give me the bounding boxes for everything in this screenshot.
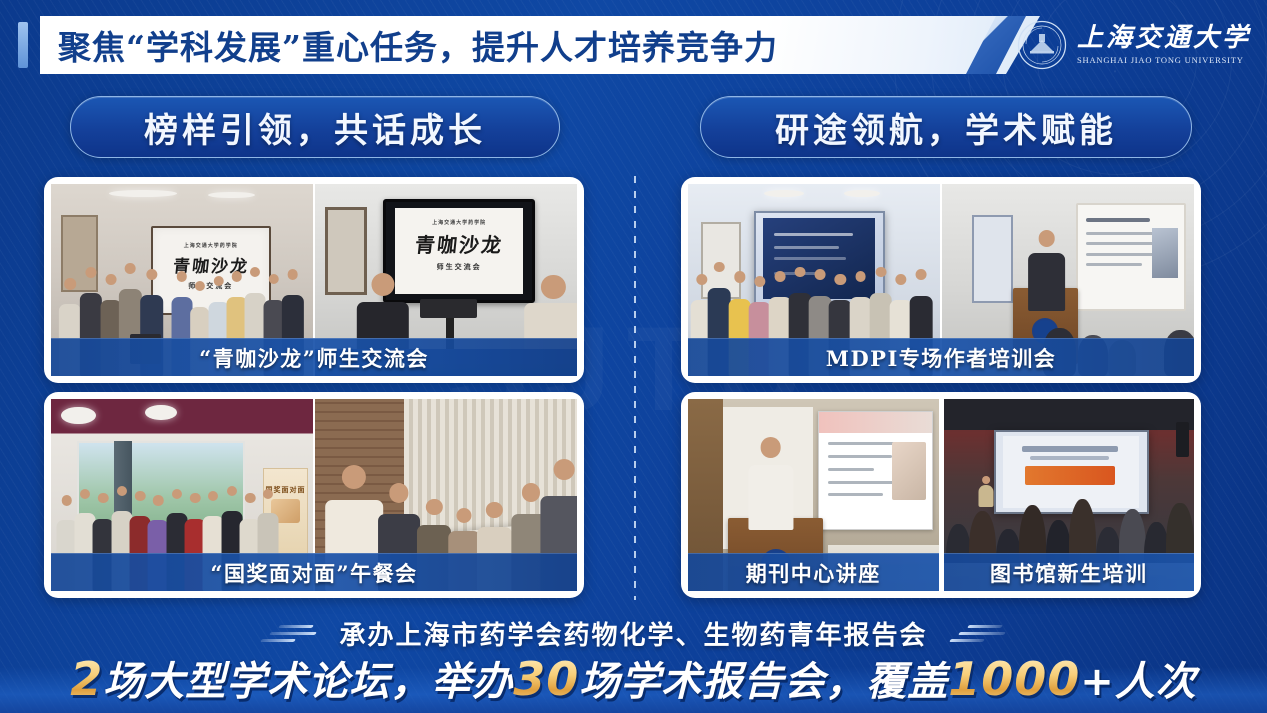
page-title: 聚焦“学科发展”重心任务，提升人才培养竞争力 — [58, 21, 778, 69]
footer-stat-text: +人次 — [1080, 659, 1197, 705]
caption-bar: “青咖沙龙”师生交流会 — [51, 338, 577, 376]
header-accent-bar — [18, 22, 28, 68]
university-logo: 上海交通大学 SHANGHAI JIAO TONG UNIVERSITY — [1017, 20, 1251, 70]
footer-line-1: 承办上海市药学会药物化学、生物药青年报告会 — [0, 615, 1267, 652]
slide-canvas: SJTU 聚焦“学科发展”重心任务，提升人才培养竞争力 上海交通大学 SHANG… — [0, 0, 1267, 713]
slanted-lines-icon-left — [261, 623, 317, 645]
section-pill-left: 榜样引领，共话成长 — [70, 96, 560, 158]
card-top-left: 上海交通大学药学院 青咖沙龙 师生交流会 — [44, 177, 584, 383]
section-pill-right: 研途领航，学术赋能 — [700, 96, 1192, 158]
card-bottom-right: 期刊中心讲座 — [681, 392, 1201, 598]
footer-stat-number: 2 — [70, 652, 103, 706]
card-top-right: MDPI专场作者培训会 — [681, 177, 1201, 383]
slanted-lines-icon-right — [950, 623, 1006, 645]
sjtu-seal-icon — [1017, 20, 1067, 70]
caption-text: 期刊中心讲座 — [746, 558, 881, 588]
logo-name-en: SHANGHAI JIAO TONG UNIVERSITY — [1077, 55, 1251, 65]
caption-text: “青咖沙龙”师生交流会 — [199, 343, 429, 373]
logo-name-cn: 上海交通大学 — [1077, 25, 1251, 52]
caption-text: “国奖面对面”午餐会 — [210, 558, 417, 588]
caption-bar: “国奖面对面”午餐会 — [51, 553, 577, 591]
caption-text: 图书馆新生培训 — [990, 558, 1148, 588]
caption-bar: 图书馆新生培训 — [944, 553, 1195, 591]
section-pill-right-label: 研途领航，学术赋能 — [775, 103, 1117, 152]
caption-bar: 期刊中心讲座 — [688, 553, 939, 591]
footer-stat-number: 30 — [513, 652, 579, 706]
footer-stat-number: 1000 — [948, 652, 1080, 706]
slide-footer: 承办上海市药学会药物化学、生物药青年报告会 2场大型学术论坛，举办30场学术报告… — [0, 607, 1267, 713]
vertical-dashed-divider — [634, 176, 636, 600]
footer-stat-text: 场大型学术论坛，举办 — [103, 659, 513, 705]
section-pill-left-label: 榜样引领，共话成长 — [144, 103, 486, 152]
footer-stat-text: 场学术报告会，覆盖 — [579, 659, 948, 705]
photo-audience-back: 图书馆新生培训 — [944, 399, 1195, 591]
footer-line-2: 2场大型学术论坛，举办30场学术报告会，覆盖1000+人次 — [0, 649, 1267, 707]
header-plate: 聚焦“学科发展”重心任务，提升人才培养竞争力 — [40, 16, 1040, 74]
photo-podium-lecture: 期刊中心讲座 — [688, 399, 939, 591]
card-bottom-left: 国奖面对面 — [44, 392, 584, 598]
caption-text: MDPI专场作者培训会 — [826, 343, 1057, 373]
footer-headline: 承办上海市药学会药物化学、生物药青年报告会 — [339, 615, 927, 652]
slide-header: 聚焦“学科发展”重心任务，提升人才培养竞争力 — [0, 16, 1040, 74]
caption-bar: MDPI专场作者培训会 — [688, 338, 1194, 376]
